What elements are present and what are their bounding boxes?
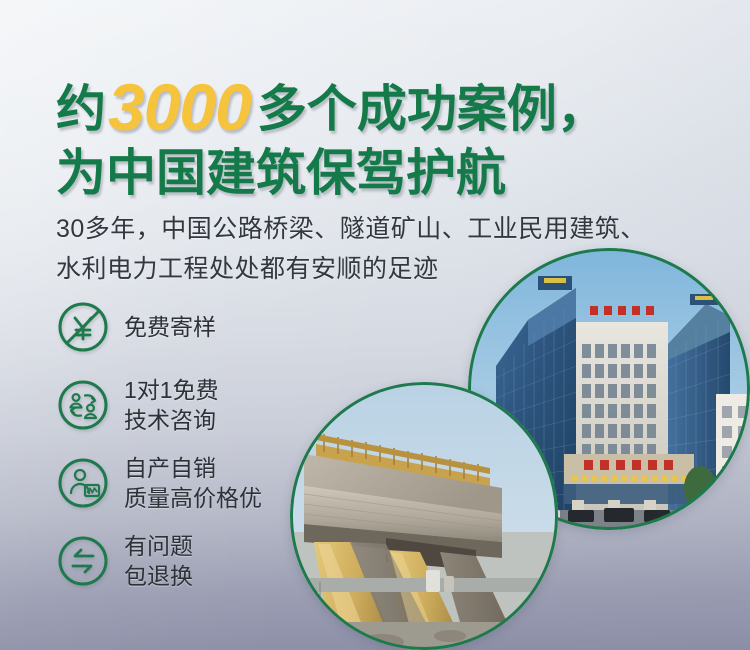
feature-label-manufacture: 自产自销 质量高价格优 — [124, 453, 262, 514]
feature-item-returns: 有问题 包退换 — [56, 530, 326, 592]
bridge-photo — [290, 382, 558, 650]
feature-label-line-1: 1对1免费 — [124, 375, 219, 405]
headline-suffix: 多个成功案例， — [257, 81, 607, 137]
feature-list: 免费寄样 — [56, 296, 326, 608]
swap-arrows-icon — [56, 534, 110, 588]
feature-item-free-sample: 免费寄样 — [56, 296, 326, 358]
headline-line-2: 为中国建筑保驾护航 — [56, 148, 607, 198]
subtitle-line-2: 水利电力工程处处都有安顺的足迹 — [56, 250, 646, 290]
feature-label-line-2: 质量高价格优 — [124, 483, 262, 513]
promo-banner: 约3000多个成功案例， 为中国建筑保驾护航 30多年，中国公路桥梁、隧道矿山、… — [0, 0, 750, 650]
feature-label-line-2: 技术咨询 — [124, 405, 219, 435]
bridge-photo-art — [290, 382, 558, 650]
headline: 约3000多个成功案例， 为中国建筑保驾护航 — [56, 74, 607, 198]
feature-label-consultation: 1对1免费 技术咨询 — [124, 375, 219, 436]
person-chart-icon — [56, 456, 110, 510]
no-fee-yuan-icon — [56, 300, 110, 354]
feature-label-line-1: 免费寄样 — [124, 312, 216, 342]
two-person-exchange-icon — [56, 378, 110, 432]
feature-item-consultation: 1对1免费 技术咨询 — [56, 374, 326, 436]
feature-label-line-1: 自产自销 — [124, 453, 262, 483]
headline-line-1: 约3000多个成功案例， — [56, 74, 607, 140]
headline-prefix: 约 — [56, 81, 106, 137]
subtitle-line-1: 30多年，中国公路桥梁、隧道矿山、工业民用建筑、 — [56, 210, 646, 250]
feature-label-free-sample: 免费寄样 — [124, 312, 216, 342]
feature-label-returns: 有问题 包退换 — [124, 531, 193, 592]
feature-label-line-1: 有问题 — [124, 531, 193, 561]
subtitle: 30多年，中国公路桥梁、隧道矿山、工业民用建筑、 水利电力工程处处都有安顺的足迹 — [56, 210, 646, 289]
feature-label-line-2: 包退换 — [124, 561, 193, 591]
headline-number: 3000 — [106, 70, 257, 144]
feature-item-manufacture: 自产自销 质量高价格优 — [56, 452, 326, 514]
